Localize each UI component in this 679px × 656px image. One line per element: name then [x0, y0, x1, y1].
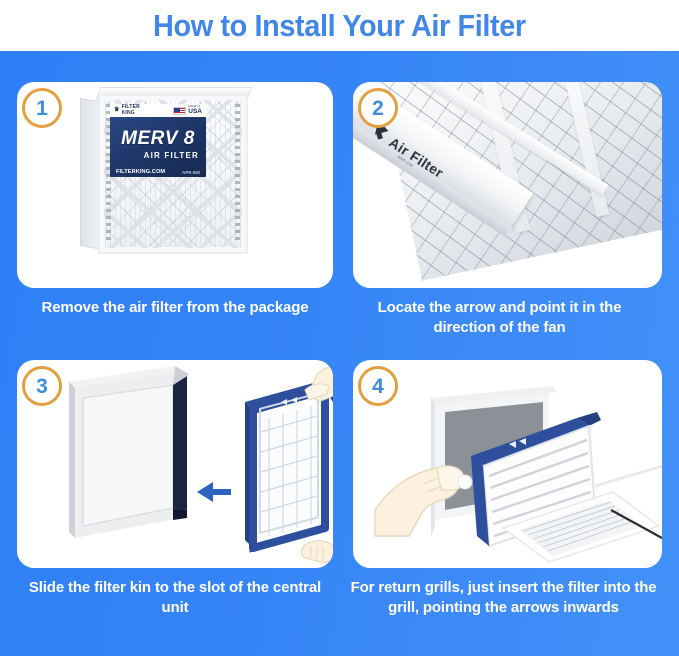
- infographic-page: How to Install Your Air Filter ♛: [0, 0, 679, 656]
- merv-rating: MERV 8: [115, 128, 201, 150]
- country-text: USA: [188, 109, 202, 116]
- step-2-card: Air Filter AIRFLOW: [353, 82, 662, 288]
- usa-flag-icon: [173, 107, 186, 115]
- website-text: FILTERKING.COM: [116, 169, 165, 175]
- step-4-caption: For return grills, just insert the filte…: [349, 578, 658, 618]
- insert-arrow-icon: [197, 482, 231, 502]
- step-1-number-badge: 1: [22, 88, 62, 128]
- filter-rib-right: [235, 104, 240, 244]
- step-3-number-badge: 3: [22, 366, 62, 406]
- step-4-artwork: [353, 360, 662, 568]
- step-4-number-badge: 4: [358, 366, 398, 406]
- step-1-artwork: ♛ FILTER KING MADE IN USA: [80, 90, 248, 260]
- product-type: AIR FILTER: [115, 151, 201, 160]
- step-1: ♛ FILTER KING MADE IN USA: [17, 82, 333, 335]
- step-3-artwork: [17, 360, 333, 568]
- page-title: How to Install Your Air Filter: [153, 8, 526, 44]
- step-3-card: [17, 360, 333, 568]
- step-2: Air Filter AIRFLOW 2 Locate the arrow an…: [353, 82, 662, 353]
- step-4: 4 For return grills, just insert the fil…: [353, 360, 662, 640]
- step-1-caption: Remove the air filter from the package: [17, 298, 333, 318]
- apr-text: APR 650: [182, 170, 200, 175]
- step-4-card: [353, 360, 662, 568]
- filter-king-logo: ♛ FILTER KING: [114, 105, 140, 116]
- crown-icon: ♛: [114, 107, 120, 113]
- step-3-caption: Slide the filter kin to the slot of the …: [17, 578, 333, 618]
- label-footer: FILTERKING.COM APR 650: [115, 169, 201, 175]
- step-1-card: ♛ FILTER KING MADE IN USA: [17, 82, 333, 288]
- step-3: 3 Slide the filter kin to the slot of th…: [17, 360, 333, 622]
- header: How to Install Your Air Filter: [0, 0, 679, 51]
- brand-text: FILTER KING: [122, 105, 140, 116]
- step-2-artwork: Air Filter AIRFLOW: [353, 82, 662, 283]
- made-in-usa-badge: MADE IN USA: [173, 106, 202, 115]
- label-header-strip: ♛ FILTER KING MADE IN USA: [110, 104, 206, 117]
- step-2-caption: Locate the arrow and point it in the dir…: [345, 298, 654, 338]
- filter-product-label: ♛ FILTER KING MADE IN USA: [110, 104, 206, 177]
- step-2-number-badge: 2: [358, 88, 398, 128]
- filter-front-face: ♛ FILTER KING MADE IN USA: [98, 94, 248, 254]
